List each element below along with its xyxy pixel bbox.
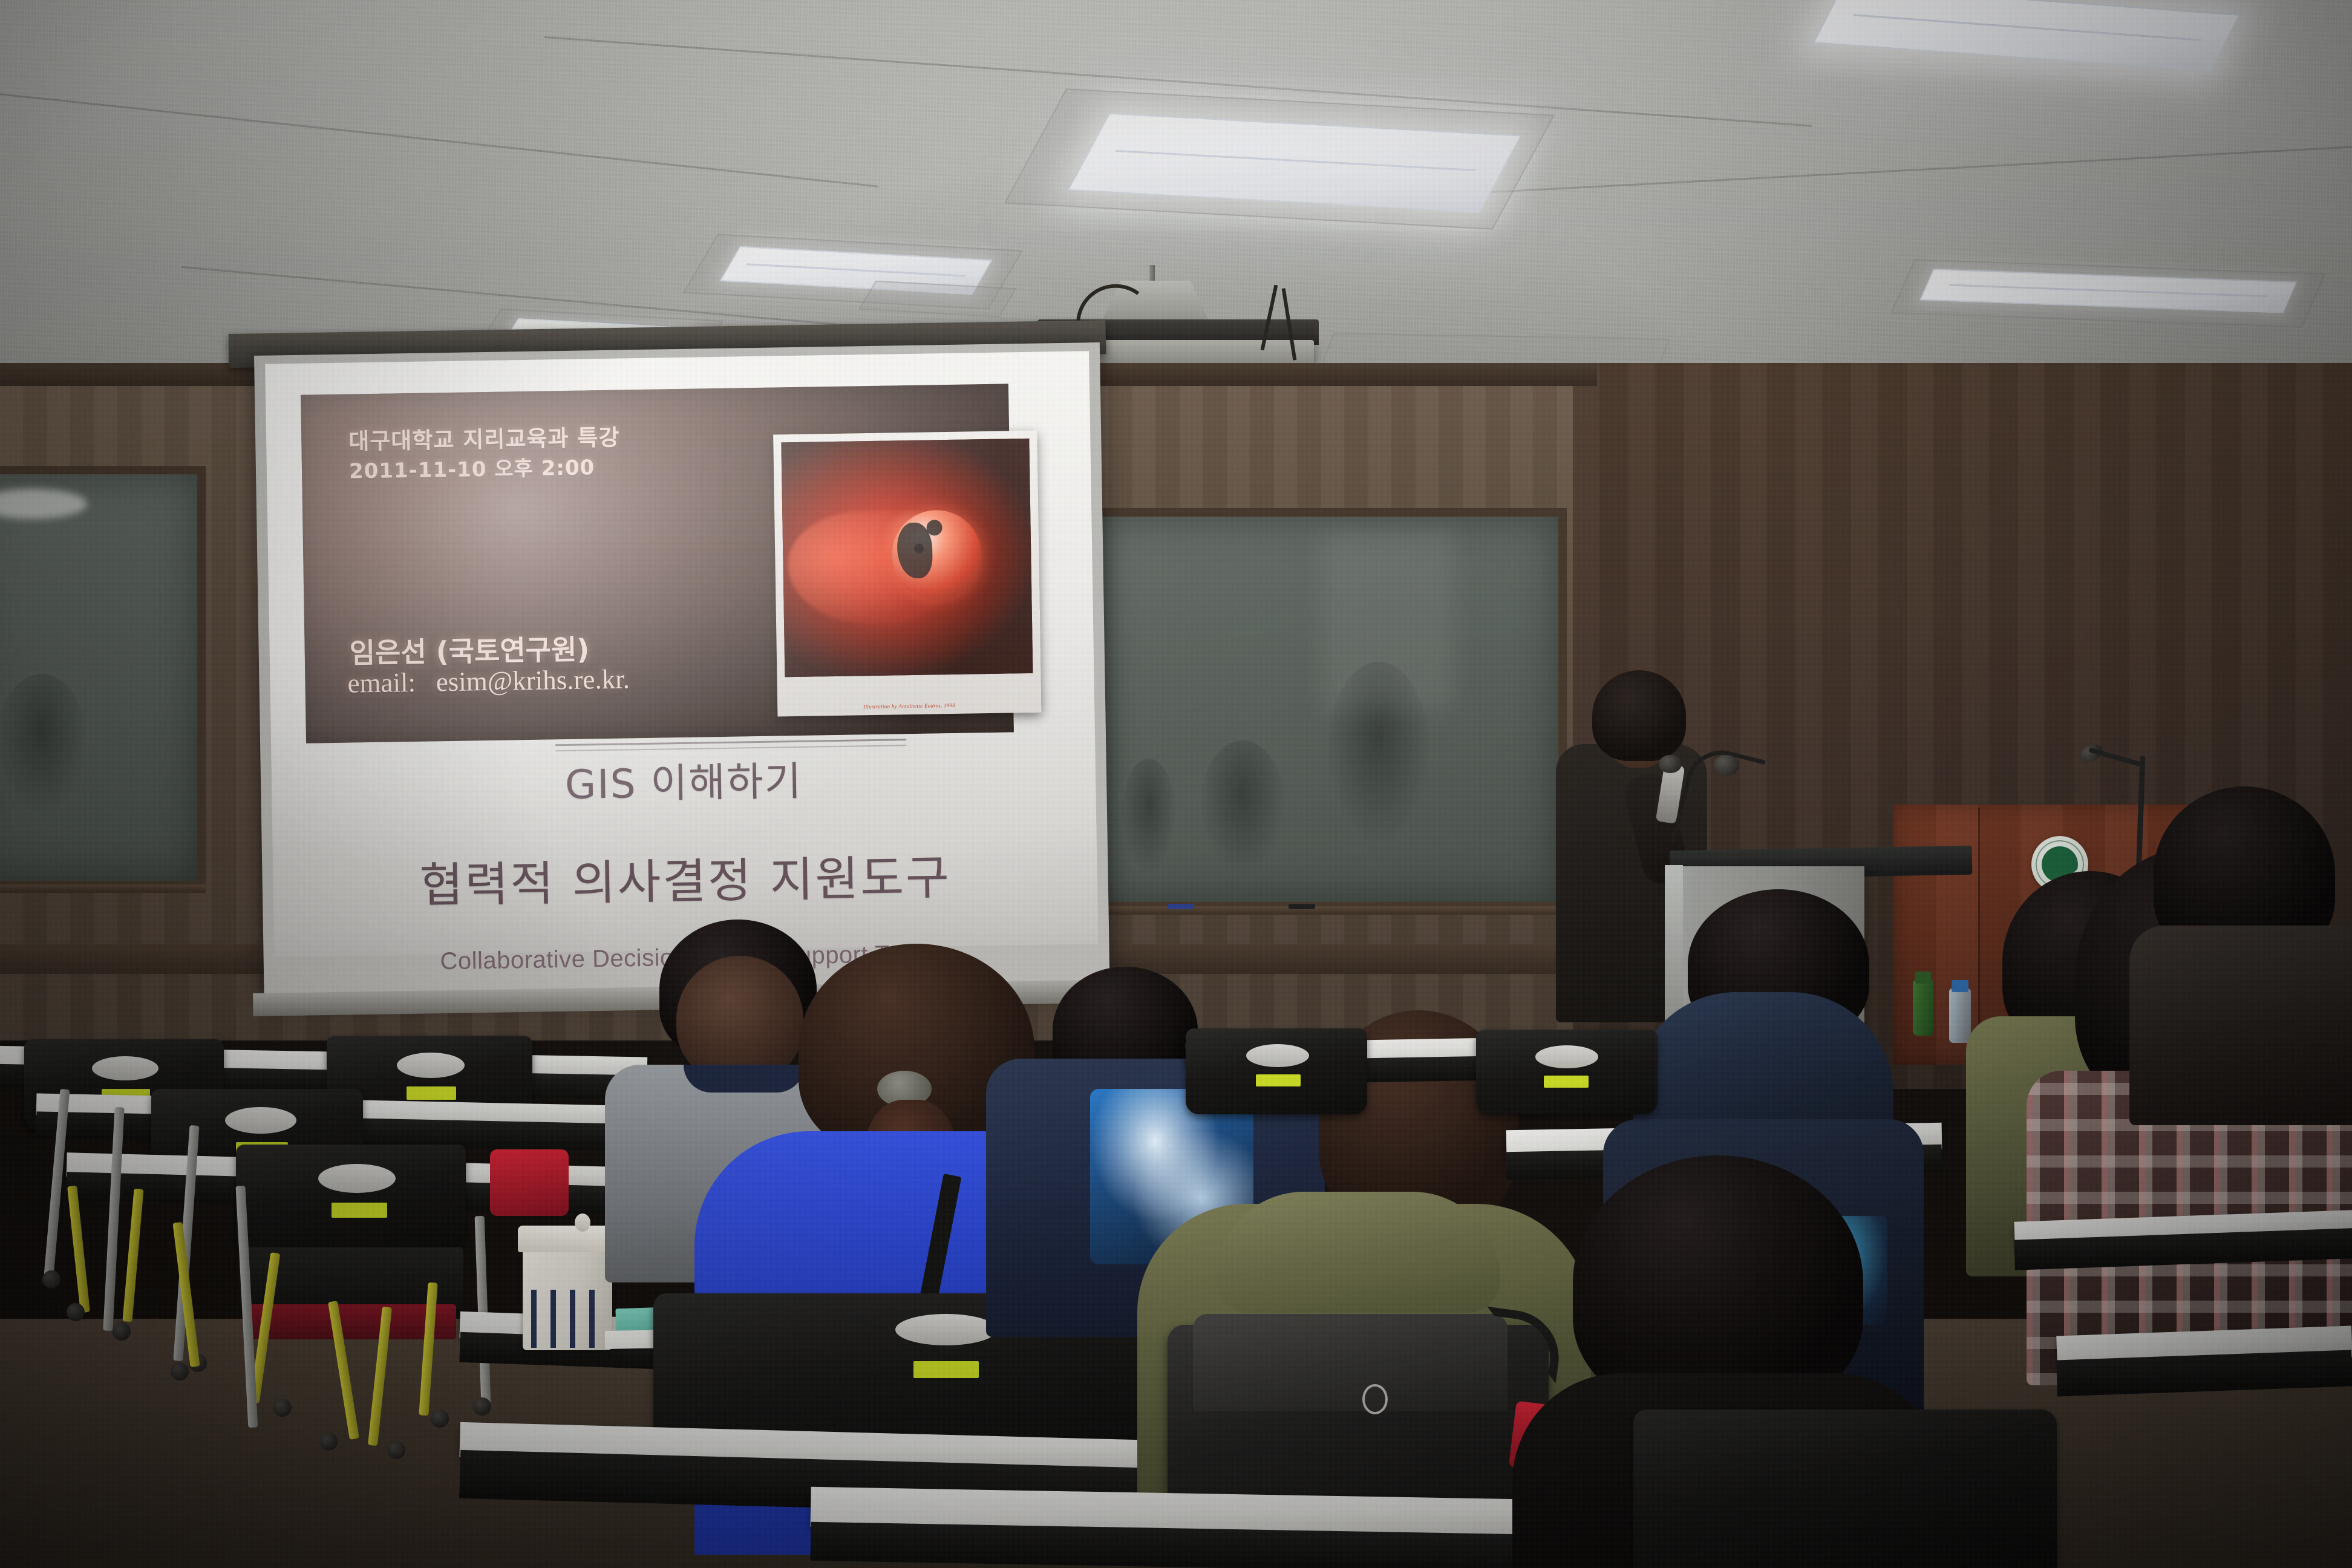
chair-handle-hole (1535, 1045, 1598, 1068)
desk-caster (113, 1322, 131, 1341)
travel-tumbler (523, 1241, 612, 1350)
chair-handle-hole (1246, 1044, 1309, 1067)
email-label: email: (347, 667, 416, 699)
bottle-cap (1915, 972, 1931, 984)
presenter-hair (1592, 670, 1686, 761)
chair-label-sticker (913, 1361, 979, 1378)
slide-datetime-line: 2011-11-10 오후 2:00 (349, 451, 595, 484)
whiteboard-marker[interactable] (1289, 904, 1315, 909)
whiteboard-reflection (1200, 740, 1285, 874)
slide-presenter-email: email: esim@krihs.re.kr. (347, 663, 630, 699)
red-item-on-desk (490, 1149, 569, 1216)
slide-divider (555, 739, 906, 746)
whiteboard-right (1083, 508, 1567, 910)
whiteboard-glare (0, 489, 87, 519)
lecture-hall-photo: 대구대학교 지리교육과 특강 2011-11-10 오후 2:00 임은선 (국… (0, 0, 2352, 1568)
email-address: esim@krihs.re.kr. (436, 664, 630, 697)
desk-leg (103, 1107, 124, 1331)
chair-caster (319, 1432, 338, 1451)
student-collar (684, 1065, 805, 1093)
whiteboard-left (0, 466, 206, 889)
slide-title-sub: 협력적 의사결정 지원도구 (273, 837, 1098, 918)
chair-leg (122, 1189, 143, 1322)
whiteboard-tray-right (1083, 906, 1567, 915)
chair (1186, 1028, 1367, 1114)
chair-caster (273, 1399, 292, 1417)
whiteboard-marker[interactable] (1168, 904, 1194, 909)
chair-caster (171, 1362, 189, 1380)
slide-image-frame: Illustration by Antoinette Endres, 1998 (773, 431, 1041, 717)
podium-mic-head (1714, 755, 1739, 776)
slide-title-main: GIS 이해하기 (271, 744, 1096, 815)
tumbler-stripes (531, 1290, 604, 1348)
slide-course-line: 대구대학교 지리교육과 특강 (348, 419, 620, 456)
chair-handle-hole (895, 1314, 997, 1345)
chair-label-sticker (332, 1203, 387, 1218)
chair (1633, 1410, 2057, 1568)
student-head (676, 956, 803, 1083)
chair-caster (387, 1441, 405, 1459)
projection-screen-surface: 대구대학교 지리교육과 특강 2011-11-10 오후 2:00 임은선 (국… (265, 351, 1098, 956)
tumbler-handle (575, 1214, 590, 1232)
whiteboard-tray-left (0, 884, 206, 893)
chair-handle-hole (225, 1107, 296, 1134)
desk-caster (473, 1397, 491, 1416)
chair-label-sticker (1544, 1076, 1589, 1088)
slide-image-caption: Illustration by Antoinette Endres, 1998 (777, 701, 1041, 711)
tumbler-lid (518, 1226, 617, 1252)
chair-label-sticker (407, 1086, 456, 1100)
chair-caster (67, 1303, 85, 1321)
chair-caster (431, 1410, 449, 1428)
student-hair (1573, 1155, 1863, 1410)
chair-leg (67, 1186, 90, 1313)
handbag-flap (1193, 1314, 1508, 1411)
whiteboard-reflection (1122, 759, 1176, 874)
chair-handle-hole (318, 1164, 396, 1193)
chair (236, 1145, 466, 1251)
chair-label-sticker (1256, 1074, 1301, 1086)
handheld-microphone-head (1659, 755, 1682, 773)
chair-handle-hole (92, 1056, 158, 1080)
bottle-clear (1949, 988, 1971, 1043)
projection-screen: 대구대학교 지리교육과 특강 2011-11-10 오후 2:00 임은선 (국… (254, 342, 1109, 997)
bottle-green (1913, 980, 1933, 1036)
whiteboard-glare (1321, 529, 1454, 710)
slide-header-panel: 대구대학교 지리교육과 특강 2011-11-10 오후 2:00 임은선 (국… (301, 384, 1014, 743)
slide-globe-image (781, 439, 1033, 677)
bottle-cap (1952, 980, 1968, 992)
whiteboard-reflection (0, 674, 87, 813)
globe-continent (926, 520, 942, 535)
student-hood (1216, 1192, 1500, 1313)
chair-handle-hole (397, 1053, 465, 1078)
handbag-ring (1362, 1384, 1388, 1414)
student-torso (2129, 926, 2352, 1125)
chair (1476, 1030, 1658, 1114)
chair-caster (42, 1270, 60, 1289)
